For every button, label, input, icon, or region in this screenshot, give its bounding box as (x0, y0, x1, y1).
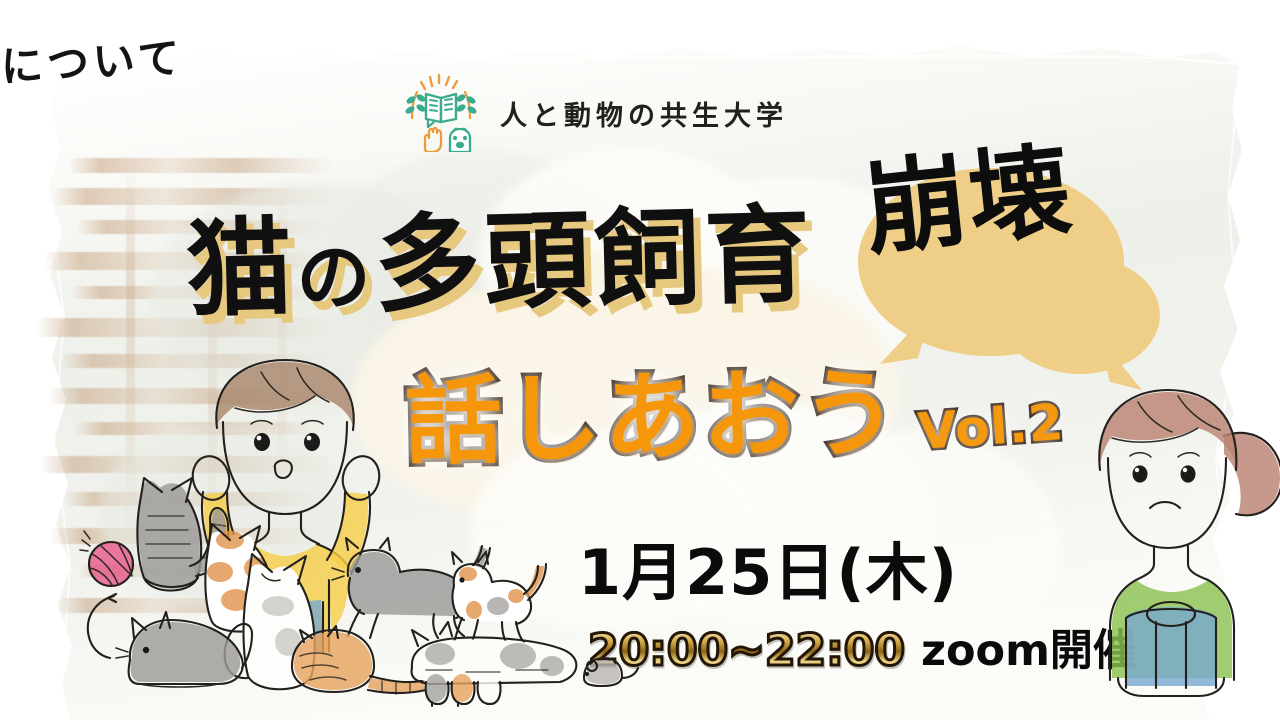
volume-label: Vol.2 (916, 393, 1066, 461)
title-kana-no: の (296, 234, 376, 322)
title-line-1: 猫の多頭飼育 (184, 168, 816, 337)
yarn-ball-illustration (78, 530, 144, 592)
sad-girl-illustration (1078, 378, 1280, 698)
mouse-illustration (578, 652, 640, 692)
poster-canvas: 人と動物の共生大学 猫の多頭飼育 崩壊 について 話しあおう Vol.2 1月2… (0, 0, 1280, 720)
title-bubble-word: 崩壊 (857, 108, 1079, 276)
book-hand-paw-logo-icon (398, 74, 484, 152)
title-houkai-text: 崩壊 (859, 129, 1078, 270)
brand-name: 人と動物の共生大学 (500, 94, 788, 133)
title-kanji-neko: 猫 (185, 204, 298, 332)
title-kanji-tatoushiiku: 多頭飼育 (373, 191, 816, 327)
cat-tail-edge-decoration (64, 592, 120, 664)
event-date: 1月25日(木) (578, 522, 958, 612)
cat-grey-loaf (112, 612, 252, 696)
event-time-row: 20:00~22:00 zoom開催 (588, 616, 1136, 678)
title-line-2: 話しあおう (404, 334, 901, 484)
brand-header: 人と動物の共生大学 (398, 74, 788, 152)
cat-lying-with-kittens (396, 620, 596, 706)
